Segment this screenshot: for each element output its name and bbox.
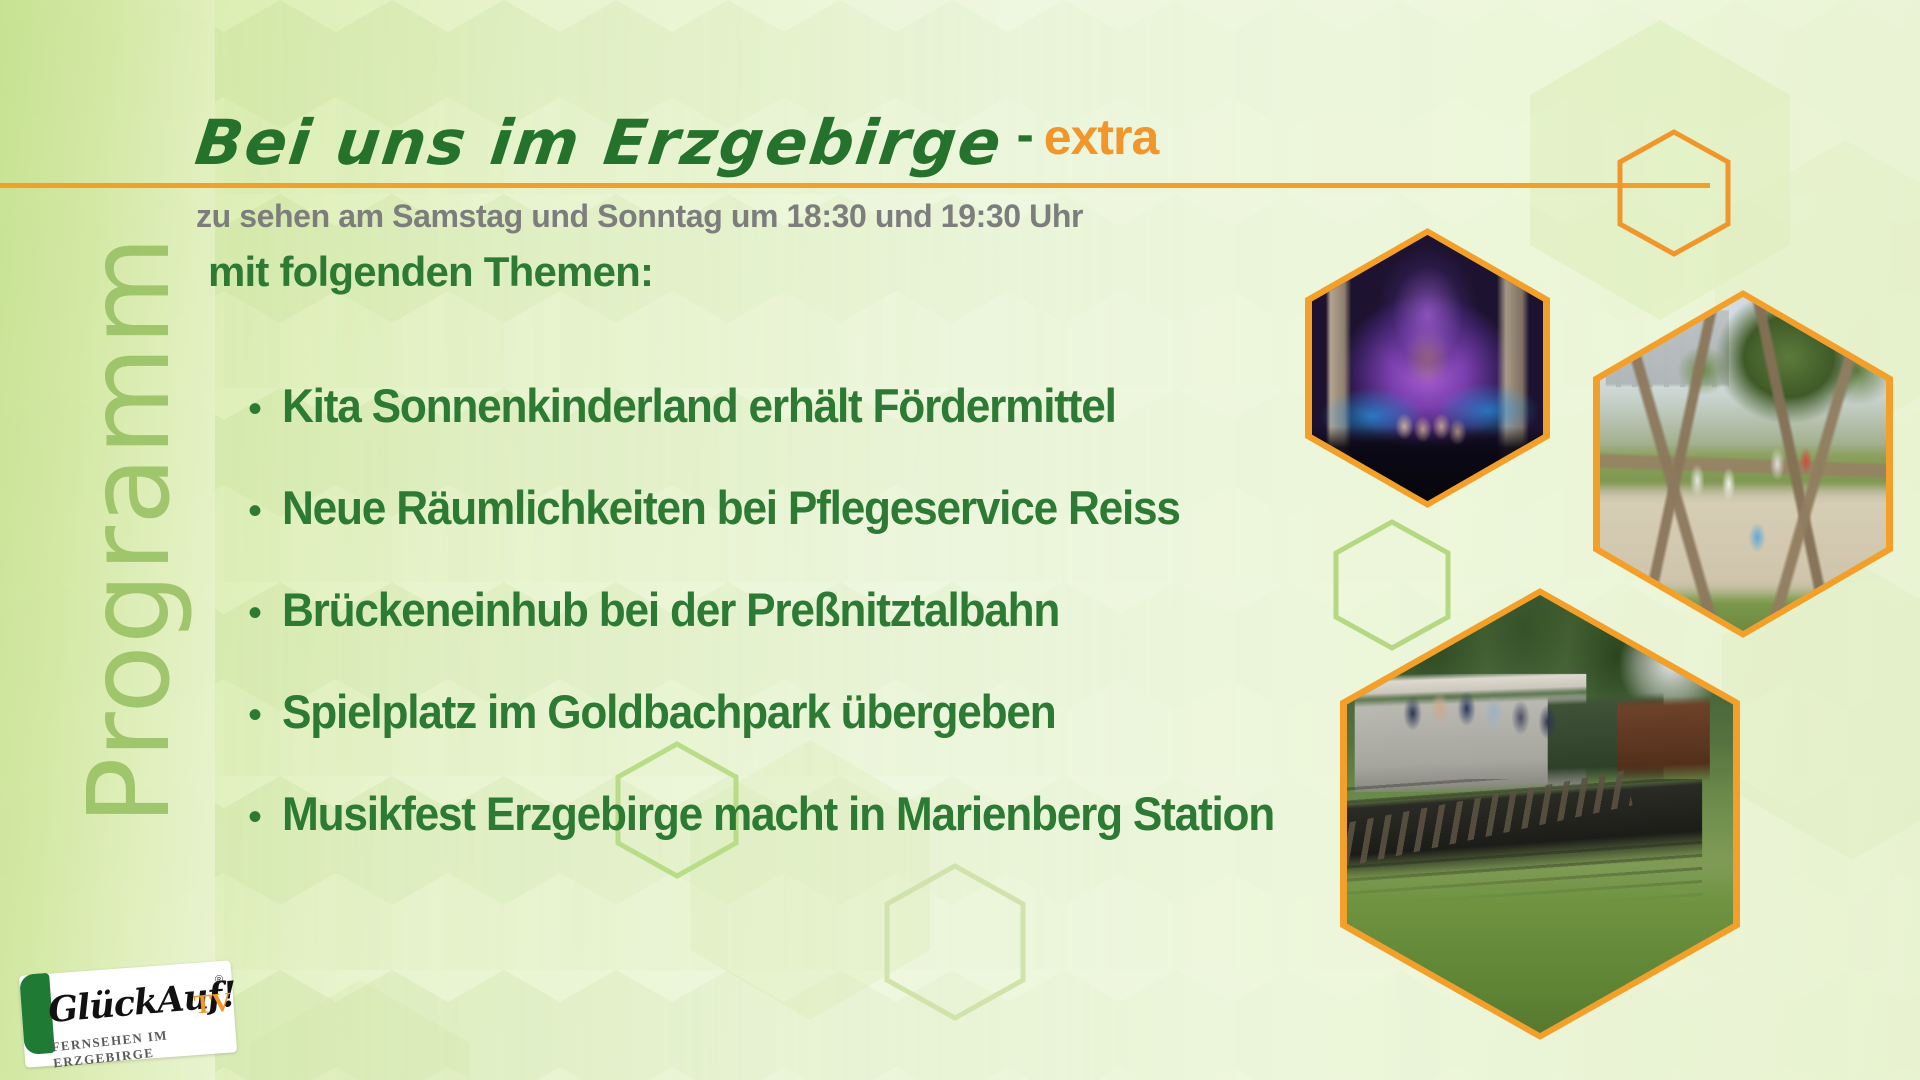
broadcast-program-slide: Programm Bei uns im Erzgebirge-extra zu …: [0, 0, 1920, 1080]
topics-intro-heading: mit folgenden Themen:: [208, 248, 653, 296]
topic-text: Kita Sonnenkinderland erhält Fördermitte…: [282, 378, 1116, 433]
program-vertical-label: Programm: [65, 150, 195, 910]
orange-divider-rule: [0, 183, 1710, 188]
slide-title: Bei uns im Erzgebirge-extra: [196, 105, 1158, 179]
station-logo: GlückAuf! TV ® FERNSEHEN IM ERZGEBIRGE: [22, 968, 234, 1060]
photo-hex-image: [1600, 297, 1886, 631]
topic-text: Neue Räumlichkeiten bei Pflegeservice Re…: [282, 480, 1180, 535]
bullet-marker-icon: •: [248, 389, 282, 429]
playground-photo: [1593, 290, 1893, 638]
list-item: • Spielplatz im Goldbachpark übergeben: [248, 684, 1328, 786]
photo-hex-image: [1347, 595, 1733, 1033]
outline-hexagon-middle: [1330, 518, 1454, 652]
church-concert-photo: [1305, 228, 1550, 508]
list-item: • Brückeneinhub bei der Preßnitztalbahn: [248, 582, 1328, 684]
topic-text: Spielplatz im Goldbachpark übergeben: [282, 684, 1056, 739]
steam-train-bridge-photo: [1340, 588, 1740, 1040]
bullet-marker-icon: •: [248, 491, 282, 531]
registered-mark-icon: ®: [215, 974, 223, 986]
topic-text: Brückeneinhub bei der Preßnitztalbahn: [282, 582, 1059, 637]
title-extra-text: extra: [1044, 108, 1159, 166]
topics-list: • Kita Sonnenkinderland erhält Fördermit…: [248, 378, 1328, 888]
broadcast-times-subtitle: zu sehen am Samstag und Sonntag um 18:30…: [196, 198, 1083, 235]
bullet-marker-icon: •: [248, 593, 282, 633]
title-dash: -: [1016, 105, 1033, 165]
logo-tv-text: TV: [193, 986, 233, 1020]
title-main-text: Bei uns im Erzgebirge: [192, 106, 1007, 179]
topic-text: Musikfest Erzgebirge macht in Marienberg…: [282, 786, 1274, 841]
list-item: • Kita Sonnenkinderland erhält Fördermit…: [248, 378, 1328, 480]
list-item: • Musikfest Erzgebirge macht in Marienbe…: [248, 786, 1328, 888]
bullet-marker-icon: •: [248, 695, 282, 735]
bullet-marker-icon: •: [248, 797, 282, 837]
outline-hexagon-top-right: [1614, 128, 1734, 258]
list-item: • Neue Räumlichkeiten bei Pflegeservice …: [248, 480, 1328, 582]
program-label-container: Programm: [0, 0, 215, 1080]
